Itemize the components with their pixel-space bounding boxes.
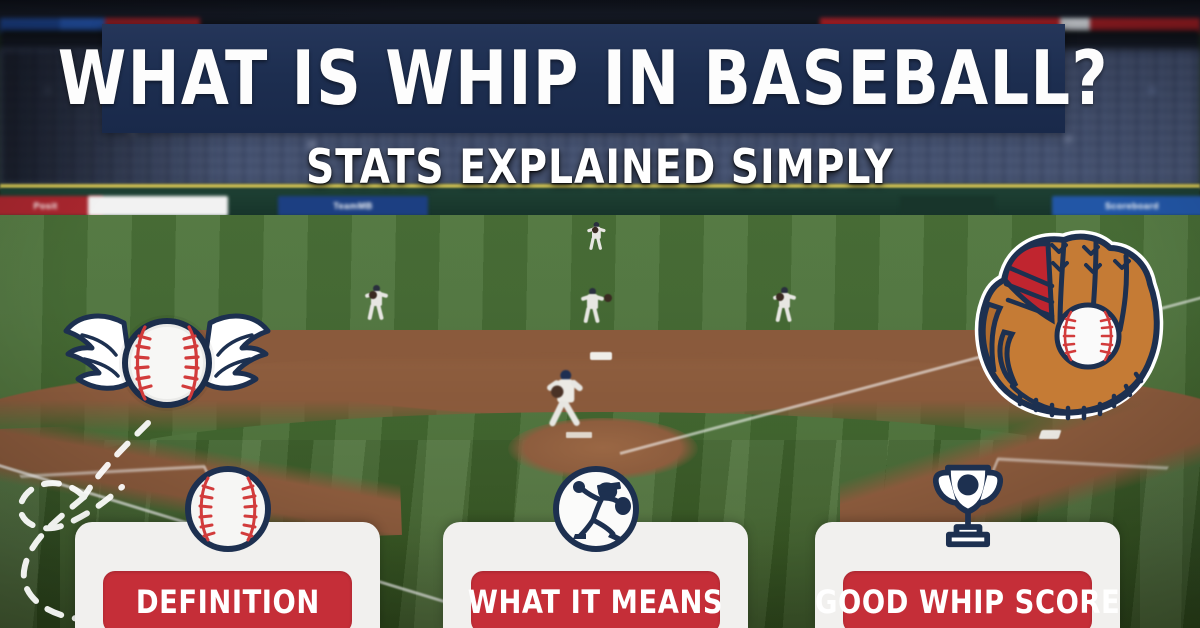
- card-good-whip-score[interactable]: GOOD WHIP SCORE: [815, 522, 1120, 628]
- pitcher-icon: [551, 464, 641, 554]
- card-row: DEFINITION: [0, 0, 1200, 628]
- card-label-pill[interactable]: GOOD WHIP SCORE: [843, 571, 1092, 628]
- hero-graphic: Posit TeamMB Scoreboard: [0, 0, 1200, 628]
- card-label: WHAT IT MEANS: [468, 583, 723, 621]
- card-label: DEFINITION: [136, 583, 320, 621]
- card-label: GOOD WHIP SCORE: [815, 583, 1120, 621]
- baseball-icon: [183, 464, 273, 554]
- trophy-icon: [923, 460, 1013, 550]
- card-definition[interactable]: DEFINITION: [75, 522, 380, 628]
- card-label-pill[interactable]: WHAT IT MEANS: [471, 571, 720, 628]
- card-label-pill[interactable]: DEFINITION: [103, 571, 352, 628]
- card-what-it-means[interactable]: WHAT IT MEANS: [443, 522, 748, 628]
